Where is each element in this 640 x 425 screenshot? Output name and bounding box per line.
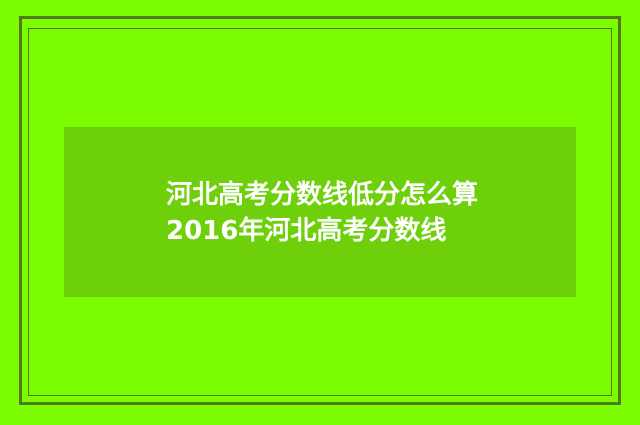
- content-panel: 河北高考分数线低分怎么算 2016年河北高考分数线: [64, 127, 576, 297]
- image-canvas: 河北高考分数线低分怎么算 2016年河北高考分数线: [0, 0, 640, 425]
- headline-line-1: 河北高考分数线低分怎么算: [166, 177, 566, 213]
- headline-line-2: 2016年河北高考分数线: [166, 213, 566, 249]
- headline-block: 河北高考分数线低分怎么算 2016年河北高考分数线: [166, 177, 566, 249]
